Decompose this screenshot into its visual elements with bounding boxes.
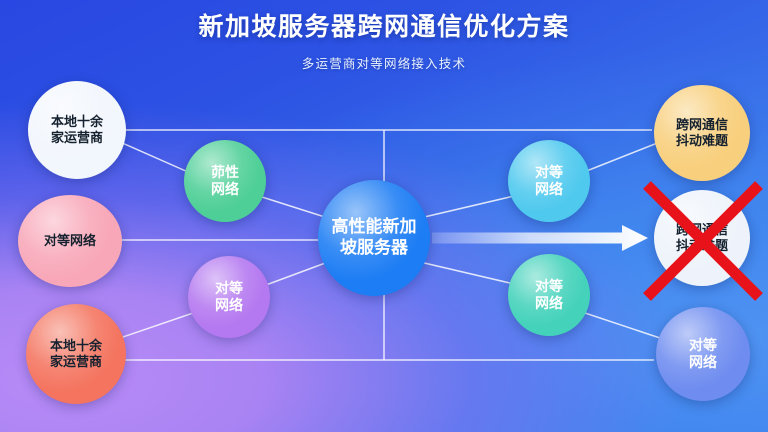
red-cross-out-icon bbox=[0, 0, 768, 432]
infographic-canvas: 新加坡服务器跨网通信优化方案 多运营商对等网络接入技术 本地十余 家运营商对等网… bbox=[0, 0, 768, 432]
